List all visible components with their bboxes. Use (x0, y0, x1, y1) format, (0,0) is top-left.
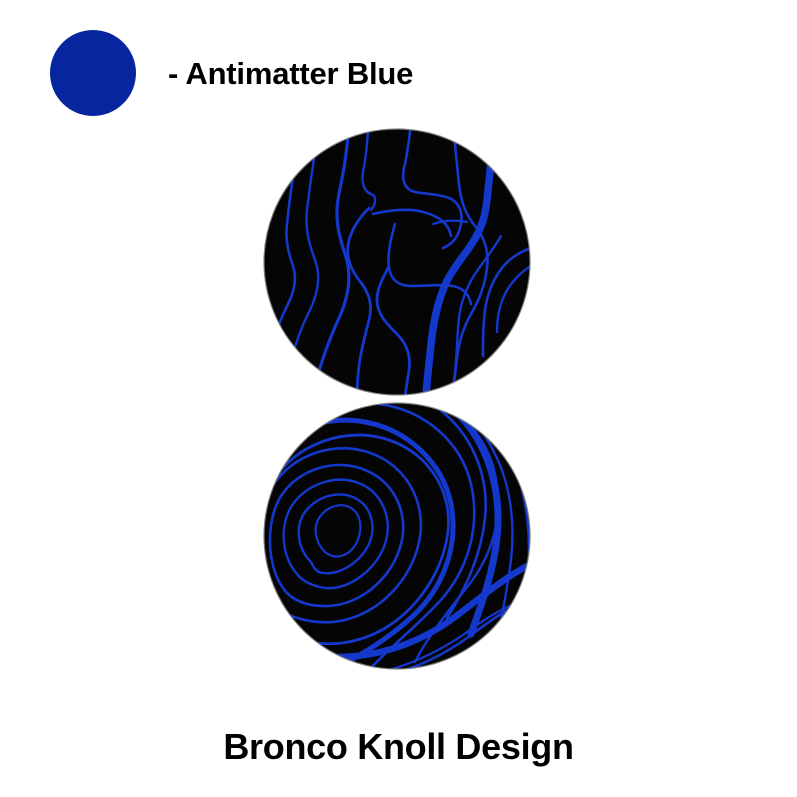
color-legend: - Antimatter Blue (50, 30, 480, 118)
design-mockup-canvas: - Antimatter Blue (0, 0, 797, 797)
color-swatch-circle (50, 30, 136, 116)
contour-disc-top[interactable] (263, 128, 531, 396)
contour-disc-top-graphic (263, 128, 531, 396)
contour-disc-bottom-graphic (263, 402, 531, 670)
color-name-label: - Antimatter Blue (168, 56, 413, 92)
contour-disc-bottom[interactable] (263, 402, 531, 670)
brand-title: Bronco Knoll Design (0, 726, 797, 768)
